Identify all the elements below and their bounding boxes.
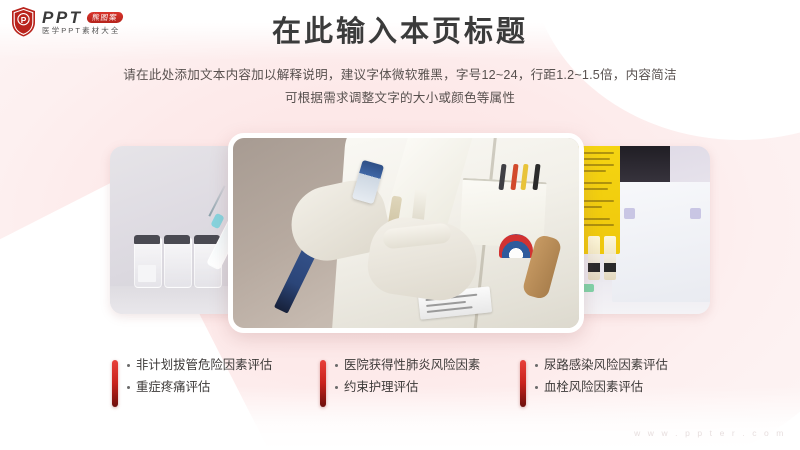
- list-item[interactable]: 医院获得性肺炎风险因素: [335, 359, 480, 373]
- list-item-label: 重症疼痛评估: [136, 381, 210, 395]
- list-item[interactable]: 尿路感染风险因素评估: [535, 359, 668, 373]
- bullet-list-2: 医院获得性肺炎风险因素 约束护理评估: [335, 358, 480, 394]
- syringe-hub: [210, 213, 224, 230]
- bullet-dot-icon: [127, 386, 130, 389]
- white-carton: [612, 182, 710, 302]
- list-item-label: 非计划拔管危险因素评估: [136, 359, 272, 373]
- carton-mark: [624, 208, 635, 219]
- vial-label: [138, 265, 156, 282]
- list-item-label: 血栓风险因素评估: [544, 381, 643, 395]
- list-item-label: 医院获得性肺炎风险因素: [344, 359, 480, 373]
- list-item-label: 尿路感染风险因素评估: [544, 359, 668, 373]
- list-item[interactable]: 重症疼痛评估: [127, 381, 272, 395]
- bullet-columns: 非计划拔管危险因素评估 重症疼痛评估 医院获得性肺炎风险因素 约束护理评估: [0, 358, 800, 407]
- slide-canvas: P PPT 熊图案 医学PPT素材大全 在此输入本页标题 请在此处添加文本内容加…: [0, 0, 800, 450]
- bullet-dot-icon: [335, 386, 338, 389]
- bullet-column-1: 非计划拔管危险因素评估 重症疼痛评估: [112, 358, 312, 407]
- bullet-dot-icon: [127, 364, 130, 367]
- vial-cap: [164, 235, 190, 244]
- column-accent-bar: [320, 360, 326, 407]
- photo-card-center[interactable]: [228, 133, 584, 333]
- image-medical-supplies-yellow-label-box: [562, 146, 710, 314]
- photo-card-right[interactable]: [562, 146, 710, 314]
- list-item[interactable]: 约束护理评估: [335, 381, 480, 395]
- vial: [164, 238, 192, 288]
- image-lab-technician-holding-vial-and-pipette: [233, 138, 579, 328]
- column-accent-bar: [520, 360, 526, 407]
- ampoule: [588, 236, 600, 280]
- bullet-dot-icon: [535, 364, 538, 367]
- column-accent-bar: [112, 360, 118, 407]
- ampoule: [604, 236, 616, 280]
- bullet-column-3: 尿路感染风险因素评估 血栓风险因素评估: [520, 358, 720, 407]
- syringe-needle: [208, 185, 225, 216]
- list-item[interactable]: 血栓风险因素评估: [535, 381, 668, 395]
- bullet-dot-icon: [535, 386, 538, 389]
- list-item[interactable]: 非计划拔管危险因素评估: [127, 359, 272, 373]
- site-watermark: w w w . p p t e r . c o m: [634, 428, 786, 438]
- bullet-dot-icon: [335, 364, 338, 367]
- list-item-label: 约束护理评估: [344, 381, 418, 395]
- bullet-list-1: 非计划拔管危险因素评估 重症疼痛评估: [127, 358, 272, 394]
- carton-mark: [690, 208, 701, 219]
- bullet-list-3: 尿路感染风险因素评估 血栓风险因素评估: [535, 358, 668, 394]
- vial-cap: [134, 235, 160, 244]
- bullet-column-2: 医院获得性肺炎风险因素 约束护理评估: [320, 358, 520, 407]
